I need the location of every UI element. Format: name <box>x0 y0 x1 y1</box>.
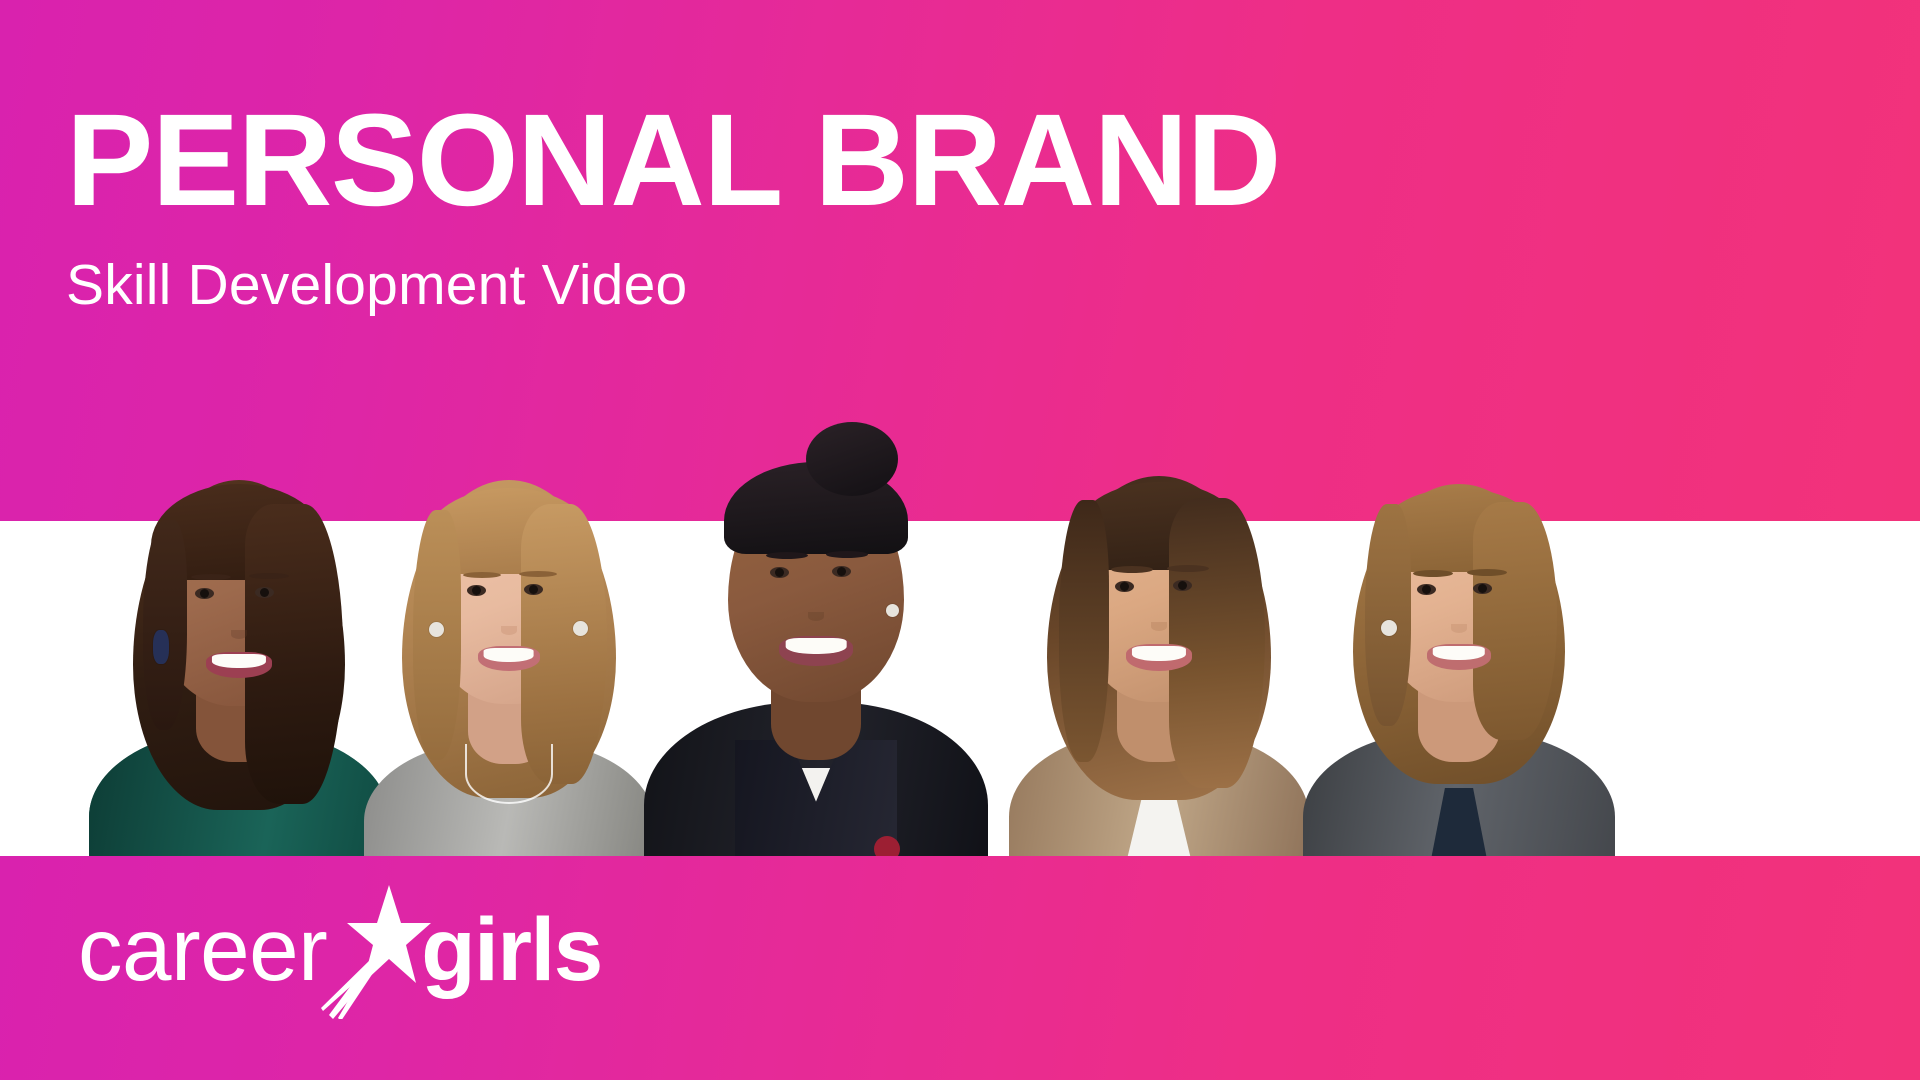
portrait-woman-1 <box>74 434 404 880</box>
logo-word-girls: girls <box>421 905 601 994</box>
earring-icon <box>1381 620 1397 636</box>
logo-word-career: career <box>78 905 327 994</box>
hair-bun <box>806 422 898 496</box>
portrait-row <box>0 380 1920 880</box>
earring-icon <box>153 630 169 664</box>
portrait-woman-4 <box>1000 436 1318 880</box>
earring-icon <box>429 622 444 637</box>
earring-icon <box>573 621 588 636</box>
shooting-star-icon <box>319 879 431 1019</box>
earring-icon <box>886 604 899 617</box>
portrait-woman-2 <box>356 444 661 880</box>
portrait-woman-5 <box>1300 444 1618 880</box>
career-girls-logo[interactable]: career girls <box>78 905 602 1025</box>
title-card-canvas: PERSONAL BRAND Skill Development Video c… <box>0 0 1920 1080</box>
portrait-woman-3 <box>640 396 992 880</box>
